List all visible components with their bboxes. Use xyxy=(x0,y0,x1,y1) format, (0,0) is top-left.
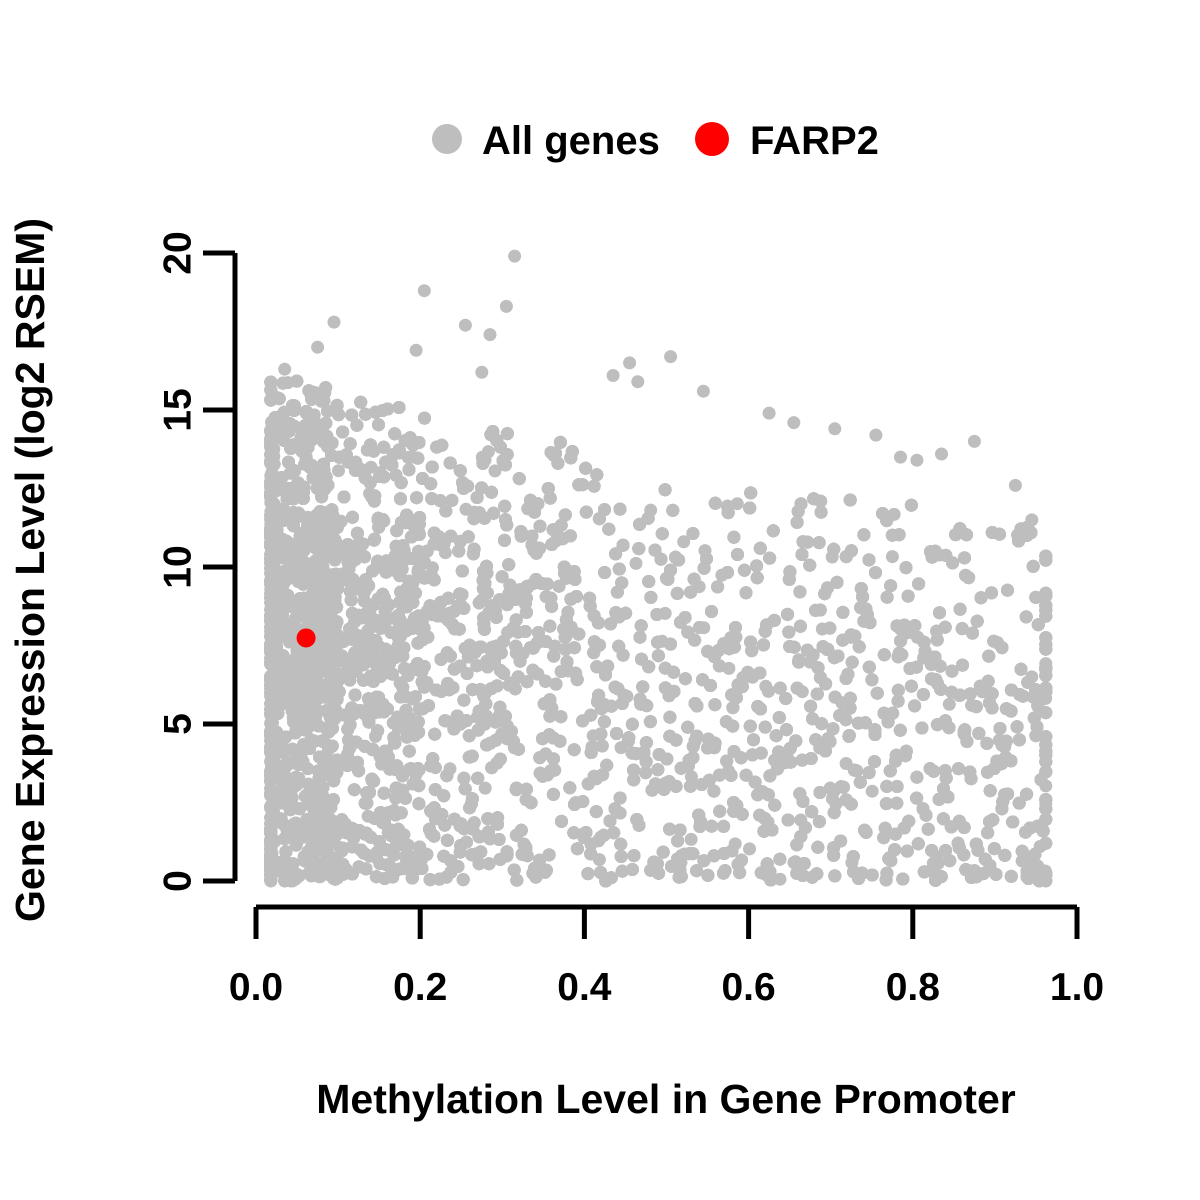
x-tick-label: 0.4 xyxy=(557,966,612,1009)
x-tick-labels: 0.00.20.40.60.81.0 xyxy=(229,966,1104,1009)
legend-label-farp2: FARP2 xyxy=(750,119,879,163)
y-tick-label: 0 xyxy=(157,870,200,892)
y-tick-label: 15 xyxy=(157,388,200,431)
y-tick-label: 5 xyxy=(157,713,200,735)
x-axis xyxy=(256,907,1077,939)
x-tick-label: 0.0 xyxy=(229,966,283,1009)
scatter-plot-figure: 05101520 0.00.20.40.60.81.0 Methylation … xyxy=(0,0,1200,1200)
x-tick-label: 0.2 xyxy=(393,966,447,1009)
x-tick-label: 0.8 xyxy=(886,966,940,1009)
legend-marker-all-genes xyxy=(432,124,462,154)
y-tick-label: 20 xyxy=(157,231,200,274)
legend-marker-farp2 xyxy=(695,122,729,156)
all-genes-point-cloud xyxy=(264,250,1052,888)
farp2-point xyxy=(297,628,316,647)
x-axis-title: Methylation Level in Gene Promoter xyxy=(316,1076,1015,1122)
x-tick-label: 0.6 xyxy=(721,966,775,1009)
farp2-marker xyxy=(297,628,316,647)
legend-label-all-genes: All genes xyxy=(482,119,660,163)
x-tick-label: 1.0 xyxy=(1050,966,1104,1009)
y-tick-labels: 05101520 xyxy=(157,231,200,892)
y-axis xyxy=(203,253,235,881)
legend: All genes FARP2 xyxy=(432,119,879,163)
y-tick-label: 10 xyxy=(157,545,200,588)
plot-canvas: 05101520 0.00.20.40.60.81.0 Methylation … xyxy=(0,0,1200,1200)
y-axis-title: Gene Expression Level (log2 RSEM) xyxy=(7,218,53,922)
